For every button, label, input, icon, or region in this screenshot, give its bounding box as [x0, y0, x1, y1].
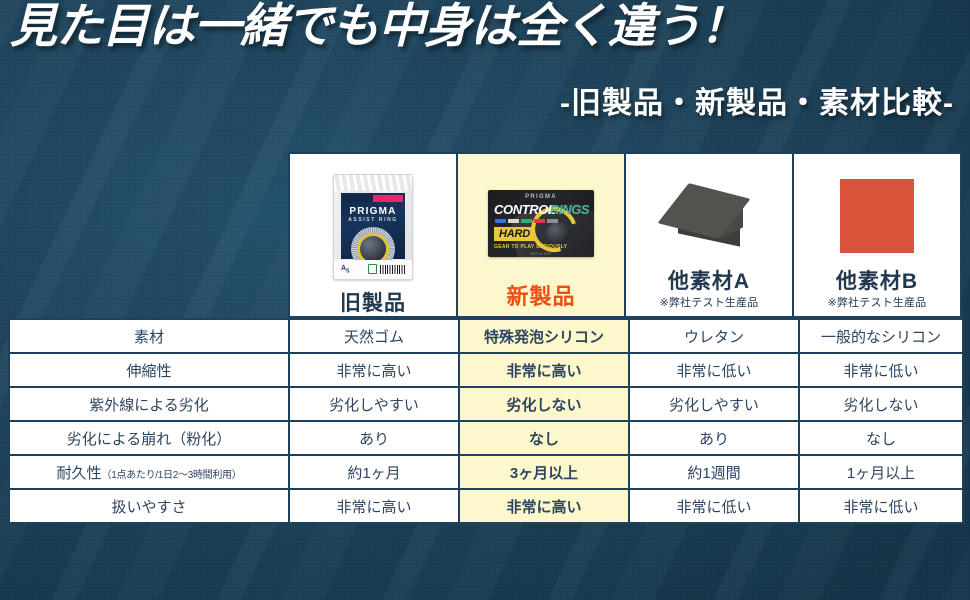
cell-material-b: 1ヶ月以上 [799, 455, 963, 489]
cell-material-a: 約1週間 [629, 455, 799, 489]
pouch-subtitle-text: ASSIST RING [334, 217, 412, 223]
column-label-old-product: 旧製品 [340, 293, 406, 316]
cell-material-b: 非常に低い [799, 353, 963, 387]
cell-new: 3ヶ月以上 [459, 455, 629, 489]
table-row: 素材 天然ゴム 特殊発泡シリコン ウレタン 一般的なシリコン [9, 319, 963, 353]
cell-material-b: 一般的なシリコン [799, 319, 963, 353]
cell-material-a: 非常に低い [629, 489, 799, 523]
row-label: 劣化による崩れ（粉化） [9, 421, 289, 455]
column-header-new-product: PRIGMA CONTROL RINGS HARD GEAR TO PLAY S… [456, 152, 626, 318]
column-header-old-product: PRIGMA ASSIST RING A5 旧製品 [288, 152, 458, 318]
row-label: 扱いやすさ [9, 489, 289, 523]
box-tagline: GEAR TO PLAY SERIOUSLY [494, 244, 567, 250]
cell-old: 非常に高い [289, 489, 459, 523]
table-row: 劣化による崩れ（粉化） あり なし あり なし [9, 421, 963, 455]
row-label: 紫外線による劣化 [9, 387, 289, 421]
cell-material-b: なし [799, 421, 963, 455]
table-row: 耐久性（1点あたり/1日2〜3時間利用） 約1ヶ月 3ヶ月以上 約1週間 1ヶ月… [9, 455, 963, 489]
box-hardness-badge: HARD [494, 227, 535, 241]
cell-material-b: 劣化しない [799, 387, 963, 421]
cell-new: 特殊発泡シリコン [459, 319, 629, 353]
row-label: 伸縮性 [9, 353, 289, 387]
cell-old: 非常に高い [289, 353, 459, 387]
row-label: 耐久性（1点あたり/1日2〜3時間利用） [9, 455, 289, 489]
red-square-icon [840, 179, 914, 253]
row-label-text: 劣化による崩れ（粉化） [67, 431, 232, 448]
cell-material-a: ウレタン [629, 319, 799, 353]
table-row: 伸縮性 非常に高い 非常に高い 非常に低い 非常に低い [9, 353, 963, 387]
material-b-image [794, 160, 960, 271]
cell-material-a: 劣化しやすい [629, 387, 799, 421]
cell-old: あり [289, 421, 459, 455]
product-box-icon: PRIGMA CONTROL RINGS HARD GEAR TO PLAY S… [488, 190, 594, 257]
cell-new: 非常に高い [459, 489, 629, 523]
column-label-material-a: 他素材A [668, 271, 750, 294]
cell-material-b: 非常に低い [799, 489, 963, 523]
product-pouch-icon: PRIGMA ASSIST RING A5 [333, 174, 413, 280]
old-product-image: PRIGMA ASSIST RING A5 [290, 160, 456, 293]
page-title: 見た目は一緒でも中身は全く違う！ [10, 0, 960, 53]
box-fine-print: NOT A TOY [488, 251, 594, 256]
column-label-new-product: 新製品 [506, 286, 575, 316]
cell-material-a: あり [629, 421, 799, 455]
cell-new: 劣化しない [459, 387, 629, 421]
box-brand-text: PRIGMA [488, 194, 594, 200]
cell-new: なし [459, 421, 629, 455]
column-note-material-a: ※弊社テスト生産品 [659, 294, 758, 316]
table-row: 紫外線による劣化 劣化しやすい 劣化しない 劣化しやすい 劣化しない [9, 387, 963, 421]
row-label-text: 伸縮性 [126, 363, 171, 380]
table-row: 扱いやすさ 非常に高い 非常に高い 非常に低い 非常に低い [9, 489, 963, 523]
box-title-two: RINGS [550, 202, 589, 217]
comparison-header-cards: PRIGMA ASSIST RING A5 旧製品 PR [288, 152, 962, 318]
row-label-text: 素材 [134, 329, 164, 346]
cell-new: 非常に高い [459, 353, 629, 387]
row-label-note: （1点あたり/1日2〜3時間利用） [102, 470, 242, 481]
comparison-table-wrapper: 素材 天然ゴム 特殊発泡シリコン ウレタン 一般的なシリコン 伸縮性 非常に高い… [8, 318, 962, 524]
poster-canvas: 見た目は一緒でも中身は全く違う！ -旧製品・新製品・素材比較- PRIGMA A… [0, 0, 970, 600]
column-note-material-b: ※弊社テスト生産品 [827, 294, 926, 316]
box-color-swatches [495, 219, 558, 223]
cell-material-a: 非常に低い [629, 353, 799, 387]
cell-old: 劣化しやすい [289, 387, 459, 421]
page-subtitle: -旧製品・新製品・素材比較- [560, 78, 954, 122]
column-header-material-b: 他素材B ※弊社テスト生産品 [792, 152, 962, 318]
new-product-image: PRIGMA CONTROL RINGS HARD GEAR TO PLAY S… [458, 160, 624, 286]
row-label: 素材 [9, 319, 289, 353]
cell-old: 約1ヶ月 [289, 455, 459, 489]
row-label-text: 耐久性 [57, 465, 102, 482]
row-label-text: 扱いやすさ [111, 499, 186, 516]
comparison-table: 素材 天然ゴム 特殊発泡シリコン ウレタン 一般的なシリコン 伸縮性 非常に高い… [8, 318, 964, 524]
column-header-material-a: 他素材A ※弊社テスト生産品 [624, 152, 794, 318]
cell-old: 天然ゴム [289, 319, 459, 353]
column-label-material-b: 他素材B [836, 271, 918, 294]
material-a-image [626, 160, 792, 271]
row-label-text: 紫外線による劣化 [89, 397, 209, 414]
pouch-brand-text: PRIGMA [334, 206, 412, 217]
foam-block-icon [661, 177, 757, 255]
box-title-one: CONTROL [494, 202, 555, 217]
